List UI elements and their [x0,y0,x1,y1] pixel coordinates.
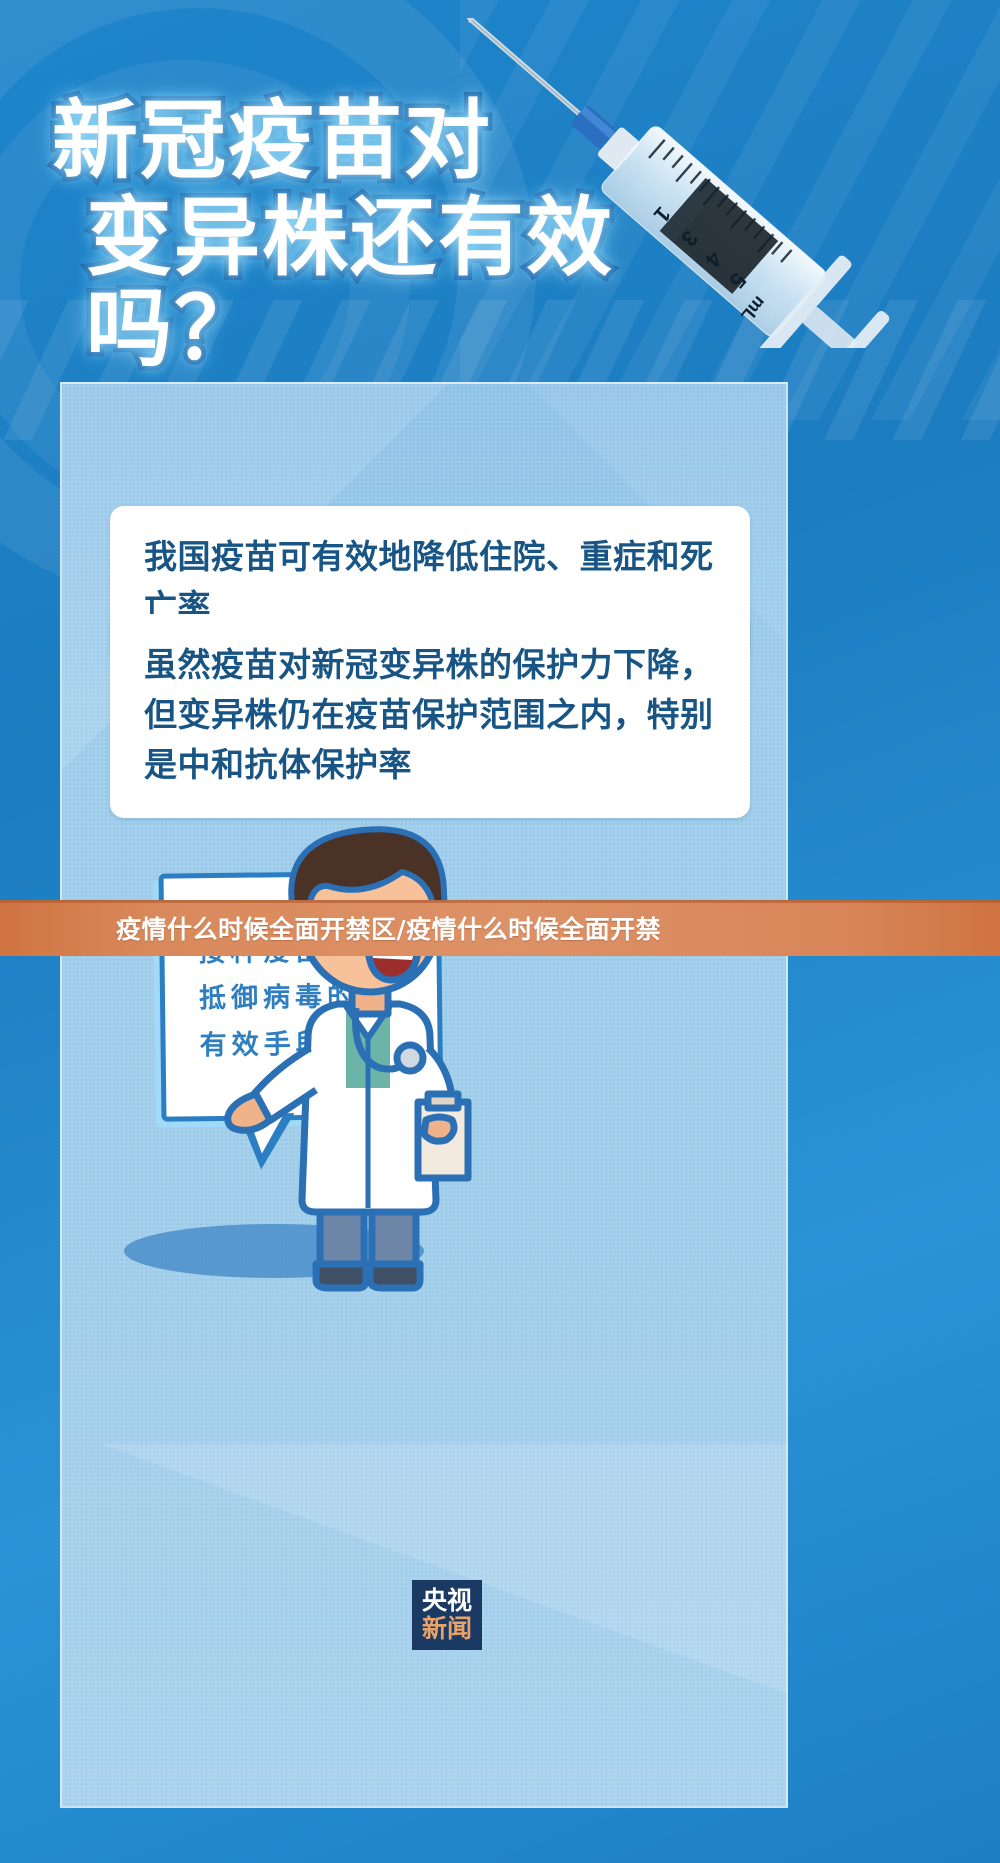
cctv-news-logo: 央视 新闻 [412,1580,482,1650]
content-panel: 我国疫苗可有效地降低住院、重症和死亡率 虽然疫苗对新冠变异株的保护力下降，但变异… [60,382,788,1808]
logo-line-1: 央视 [422,1587,472,1615]
overlay-banner-top-border [0,900,1000,903]
overlay-banner-text: 疫情什么时候全面开禁区/疫情什么时候全面开禁 [116,910,661,946]
overlay-banner: 疫情什么时候全面开禁区/疫情什么时候全面开禁 [0,900,1000,956]
poster-root: 1 3 4 5 mL 新冠疫苗对 变异株还有效吗？ 我国疫苗可有效地 [0,0,1000,1863]
logo-line-2: 新闻 [422,1615,472,1643]
info-card-2: 虽然疫苗对新冠变异株的保护力下降，但变异株仍在疫苗保护范围之内，特别是中和抗体保… [110,614,750,818]
headline-line-1: 新冠疫苗对 [52,96,772,187]
info-card-2-text: 虽然疫苗对新冠变异株的保护力下降，但变异株仍在疫苗保护范围之内，特别是中和抗体保… [110,614,750,818]
cartoon-doctor-illustration [212,802,512,1297]
headline-line-2: 变异株还有效吗？ [86,193,772,375]
poster-headline: 新冠疫苗对 变异株还有效吗？ [52,96,772,375]
